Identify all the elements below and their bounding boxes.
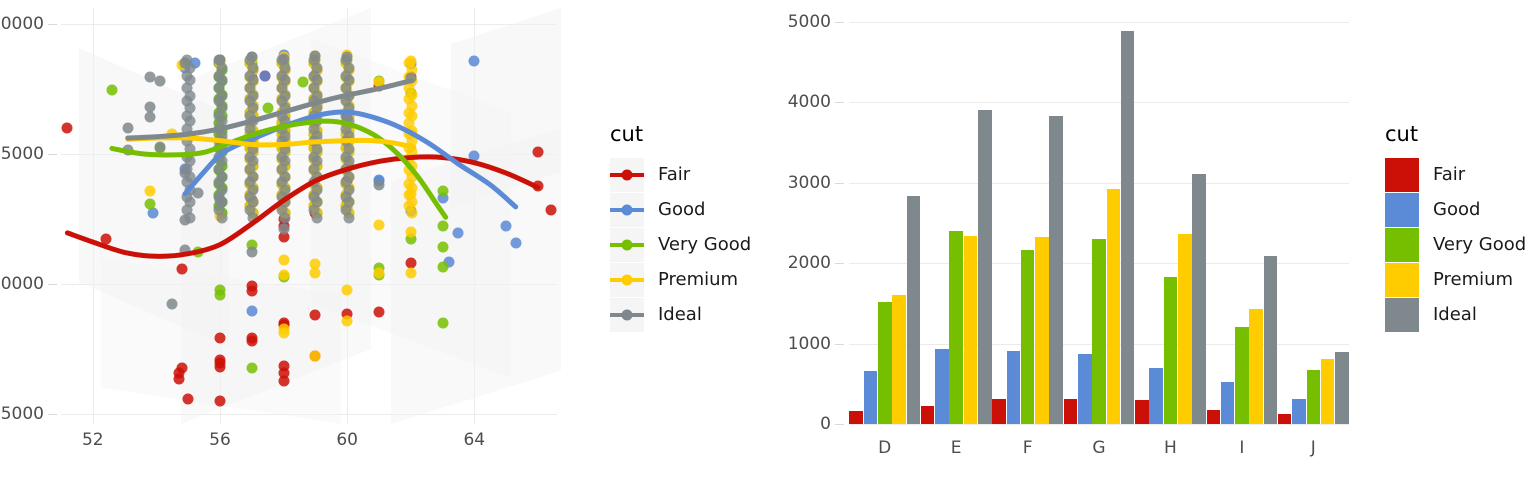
scatter-y-axis: 5000100001500020000 [0, 8, 57, 424]
bar-I-fair[interactable] [1207, 410, 1221, 424]
bar-J-premium[interactable] [1321, 359, 1335, 424]
legend-item-very-good[interactable]: Very Good [610, 227, 751, 262]
line-marker[interactable] [610, 278, 644, 282]
bar-H-fair[interactable] [1135, 400, 1149, 424]
scatter-y-tick-mark[interactable] [48, 284, 57, 285]
line-marker[interactable] [610, 313, 644, 317]
legend-key-swatch[interactable] [1385, 228, 1419, 262]
line-marker[interactable] [610, 173, 644, 177]
bar-D-very-good[interactable] [878, 302, 892, 424]
bar-y-tick-label[interactable]: 3000 [788, 173, 831, 193]
bar-x-tick-label[interactable]: H [1164, 438, 1177, 458]
legend-key-line-point[interactable] [610, 298, 644, 332]
bar-x-tick-label[interactable]: I [1239, 438, 1244, 458]
legend-item-label[interactable]: Fair [1433, 164, 1465, 185]
bar-G-very-good[interactable] [1092, 239, 1106, 424]
bar-F-good[interactable] [1007, 351, 1021, 424]
bar-gridline-y[interactable] [849, 183, 1349, 184]
color-swatch[interactable] [1385, 193, 1419, 227]
scatter-x-tick-label[interactable]: 64 [463, 430, 485, 450]
scatter-x-tick-label[interactable]: 52 [82, 430, 104, 450]
legend-key-line-point[interactable] [610, 228, 644, 262]
legend-item-premium[interactable]: Premium [610, 262, 751, 297]
grouped-bar-figure: 010002000300040005000 DEFGHIJ cut FairGo… [780, 0, 1536, 480]
legend-item-premium[interactable]: Premium [1385, 262, 1526, 297]
bar-x-tick-label[interactable]: G [1092, 438, 1105, 458]
bar-D-ideal[interactable] [907, 196, 921, 424]
bar-F-premium[interactable] [1035, 237, 1049, 424]
legend-item-fair[interactable]: Fair [610, 157, 751, 192]
legend-item-label[interactable]: Fair [658, 164, 690, 185]
bar-gridline-y[interactable] [849, 102, 1349, 103]
bar-y-tick-label[interactable]: 4000 [788, 92, 831, 112]
scatter-x-axis: 52566064 [61, 430, 557, 460]
bar-y-tick-mark[interactable] [835, 344, 844, 345]
bar-y-tick-mark[interactable] [835, 102, 844, 103]
bar-x-tick-label[interactable]: F [1023, 438, 1033, 458]
scatter-smooth-figure: 5000100001500020000 52566064 cut FairGoo… [0, 0, 600, 480]
legend-key-line-point[interactable] [610, 158, 644, 192]
bar-H-very-good[interactable] [1164, 277, 1178, 424]
bar-y-tick-mark[interactable] [835, 263, 844, 264]
legend-key-swatch[interactable] [1385, 193, 1419, 227]
smoother-line [128, 138, 414, 147]
legend-key-swatch[interactable] [1385, 158, 1419, 192]
point-marker[interactable] [622, 204, 633, 215]
color-swatch[interactable] [1385, 263, 1419, 297]
bar-legend-title: cut [1385, 124, 1526, 145]
legend-key-line-point[interactable] [610, 263, 644, 297]
bar-y-tick-label[interactable]: 5000 [788, 12, 831, 32]
scatter-y-tick-label[interactable]: 5000 [1, 404, 44, 424]
legend-item-good[interactable]: Good [1385, 192, 1526, 227]
legend-item-label[interactable]: Very Good [658, 234, 751, 255]
point-marker[interactable] [622, 274, 633, 285]
bar-plot-panel [849, 22, 1349, 424]
legend-key-swatch[interactable] [1385, 298, 1419, 332]
bar-F-very-good[interactable] [1021, 250, 1035, 424]
bar-E-fair[interactable] [921, 406, 935, 424]
bar-I-very-good[interactable] [1235, 327, 1249, 424]
bar-F-ideal[interactable] [1049, 116, 1063, 424]
legend-item-ideal[interactable]: Ideal [1385, 297, 1526, 332]
bar-x-tick-label[interactable]: J [1311, 438, 1316, 458]
line-marker[interactable] [610, 208, 644, 212]
bar-I-good[interactable] [1221, 382, 1235, 424]
bar-y-axis: 010002000300040005000 [780, 22, 844, 424]
bar-y-tick-mark[interactable] [835, 183, 844, 184]
legend-item-label[interactable]: Very Good [1433, 234, 1526, 255]
bar-y-tick-mark[interactable] [835, 424, 844, 425]
bar-H-good[interactable] [1149, 368, 1163, 424]
legend-item-very-good[interactable]: Very Good [1385, 227, 1526, 262]
smoother-lines-layer [61, 8, 557, 424]
bar-G-fair[interactable] [1064, 399, 1078, 424]
legend-item-ideal[interactable]: Ideal [610, 297, 751, 332]
legend-key-line-point[interactable] [610, 193, 644, 227]
point-marker[interactable] [622, 169, 633, 180]
bar-E-premium[interactable] [964, 236, 978, 424]
bar-D-good[interactable] [864, 371, 878, 424]
bar-J-ideal[interactable] [1335, 352, 1349, 424]
scatter-y-tick-mark[interactable] [48, 24, 57, 25]
bar-F-fair[interactable] [992, 399, 1006, 424]
scatter-y-tick-mark[interactable] [48, 154, 57, 155]
bar-x-tick-label[interactable]: D [878, 438, 891, 458]
legend-item-label[interactable]: Premium [1433, 269, 1513, 290]
bar-J-very-good[interactable] [1307, 370, 1321, 425]
figure-canvas: 5000100001500020000 52566064 cut FairGoo… [0, 0, 1536, 480]
bar-I-premium[interactable] [1249, 309, 1263, 424]
legend-item-label[interactable]: Good [658, 199, 705, 220]
point-marker[interactable] [622, 309, 633, 320]
legend-item-fair[interactable]: Fair [1385, 157, 1526, 192]
bar-y-tick-label[interactable]: 1000 [788, 334, 831, 354]
bar-D-fair[interactable] [849, 411, 863, 424]
bar-H-premium[interactable] [1178, 234, 1192, 424]
point-marker[interactable] [622, 239, 633, 250]
bar-gridline-y[interactable] [849, 424, 1349, 425]
scatter-x-tick-label[interactable]: 56 [209, 430, 231, 450]
bar-legend: cut FairGoodVery GoodPremiumIdeal [1385, 124, 1526, 332]
bar-D-premium[interactable] [892, 295, 906, 424]
legend-item-label[interactable]: Ideal [1433, 304, 1477, 325]
legend-item-good[interactable]: Good [610, 192, 751, 227]
line-marker[interactable] [610, 243, 644, 247]
bar-y-tick-label[interactable]: 0 [820, 414, 831, 434]
legend-item-label[interactable]: Ideal [658, 304, 702, 325]
bar-J-fair[interactable] [1278, 414, 1292, 424]
bar-y-tick-label[interactable]: 2000 [788, 253, 831, 273]
legend-key-swatch[interactable] [1385, 263, 1419, 297]
scatter-legend: cut FairGoodVery GoodPremiumIdeal [610, 124, 751, 332]
scatter-y-tick-label[interactable]: 15000 [0, 144, 44, 164]
bar-y-tick-mark[interactable] [835, 22, 844, 23]
scatter-y-tick-label[interactable]: 20000 [0, 14, 44, 34]
scatter-y-tick-label[interactable]: 10000 [0, 274, 44, 294]
bar-G-ideal[interactable] [1121, 31, 1135, 424]
legend-item-label[interactable]: Good [1433, 199, 1480, 220]
bar-E-very-good[interactable] [949, 231, 963, 424]
bar-J-good[interactable] [1292, 399, 1306, 424]
bar-legend-items: FairGoodVery GoodPremiumIdeal [1385, 157, 1526, 332]
color-swatch[interactable] [1385, 228, 1419, 262]
bar-E-good[interactable] [935, 349, 949, 424]
bar-G-good[interactable] [1078, 354, 1092, 424]
bar-x-axis: DEFGHIJ [849, 438, 1349, 468]
legend-item-label[interactable]: Premium [658, 269, 738, 290]
color-swatch[interactable] [1385, 158, 1419, 192]
bar-gridline-y[interactable] [849, 22, 1349, 23]
scatter-x-tick-label[interactable]: 60 [336, 430, 358, 450]
bar-H-ideal[interactable] [1192, 174, 1206, 424]
scatter-y-tick-mark[interactable] [48, 414, 57, 415]
bar-G-premium[interactable] [1107, 189, 1121, 424]
bar-E-ideal[interactable] [978, 110, 992, 424]
scatter-plot-panel [61, 8, 557, 424]
scatter-legend-items: FairGoodVery GoodPremiumIdeal [610, 157, 751, 332]
bar-x-tick-label[interactable]: E [951, 438, 962, 458]
color-swatch[interactable] [1385, 298, 1419, 332]
scatter-legend-title: cut [610, 124, 751, 145]
bar-I-ideal[interactable] [1264, 256, 1278, 424]
